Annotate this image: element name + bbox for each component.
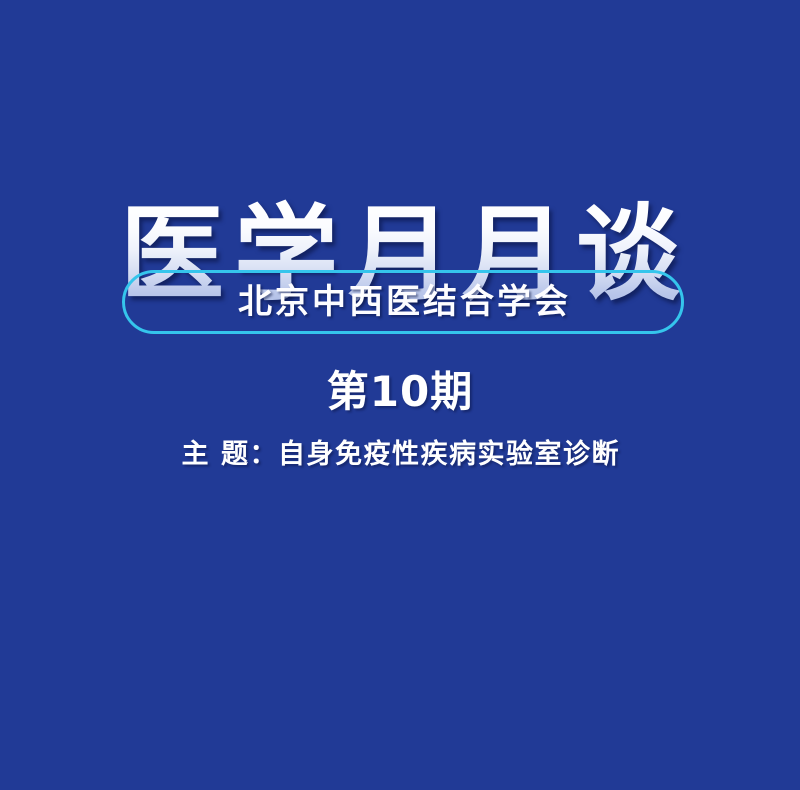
issue-label: 第10期 — [0, 368, 800, 416]
organization-name: 北京中西医结合学会 — [235, 282, 571, 322]
topic-label: 主 题：自身免疫性疾病实验室诊断 — [0, 438, 800, 472]
poster-canvas: 医学月月谈 北京中西医结合学会 第10期 主 题：自身免疫性疾病实验室诊断 — [0, 0, 800, 790]
lower-empty-area — [0, 500, 800, 790]
organization-pill: 北京中西医结合学会 — [122, 270, 684, 334]
title-block: 医学月月谈 — [0, 128, 800, 379]
